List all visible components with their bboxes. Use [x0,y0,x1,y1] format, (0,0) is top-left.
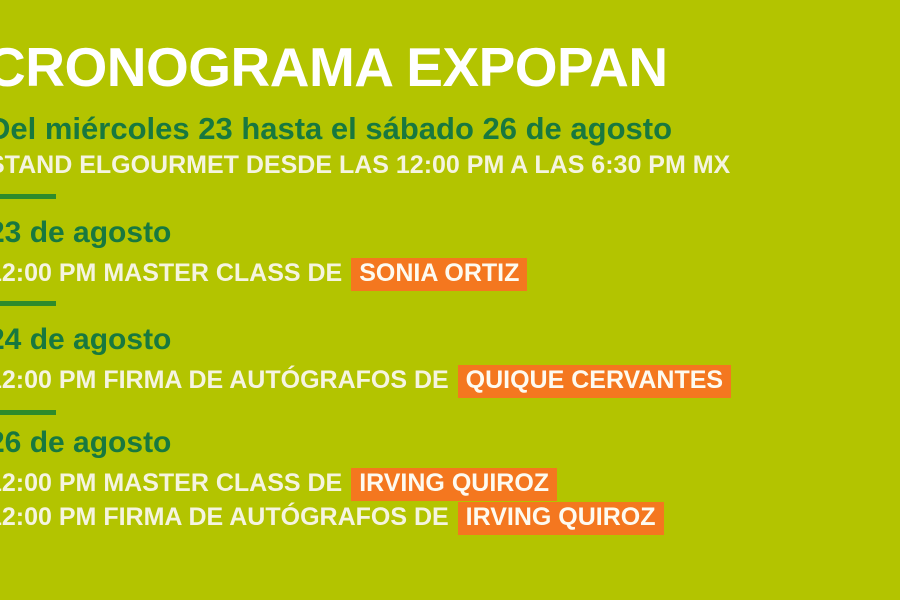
decoration-group [700,0,900,140]
day-block-23: 23 de agosto 12:00 PM MASTER CLASS DE SO… [0,218,527,291]
event-line: 12:00 PM MASTER CLASS DE IRVING QUIROZ [0,467,664,501]
event-time-text: 12:00 PM FIRMA DE AUTÓGRAFOS DE [0,366,449,394]
poster-title: CRONOGRAMA EXPOPAN [0,40,668,95]
day-block-26: 26 de agosto 12:00 PM MASTER CLASS DE IR… [0,428,664,535]
event-line: 12:00 PM FIRMA DE AUTÓGRAFOS DE QUIQUE C… [0,364,731,398]
guest-name-chip: QUIQUE CERVANTES [458,365,731,398]
event-time-text: 12:00 PM MASTER CLASS DE [0,469,342,497]
event-time-text: 12:00 PM MASTER CLASS DE [0,259,342,287]
event-line: 12:00 PM FIRMA DE AUTÓGRAFOS DE IRVING Q… [0,501,664,535]
divider-rule-2 [0,301,56,306]
poster-subtitle: Del miércoles 23 hasta el sábado 26 de a… [0,113,672,144]
event-line: 12:00 PM MASTER CLASS DE SONIA ORTIZ [0,257,527,291]
poster-canvas: CRONOGRAMA EXPOPAN Del miércoles 23 hast… [0,0,900,600]
event-time-text: 12:00 PM FIRMA DE AUTÓGRAFOS DE [0,503,449,531]
day-heading: 26 de agosto [0,428,664,458]
day-heading: 23 de agosto [0,218,527,248]
guest-name-chip: SONIA ORTIZ [351,258,527,291]
divider-rule-3 [0,410,56,415]
day-block-24: 24 de agosto 12:00 PM FIRMA DE AUTÓGRAFO… [0,325,731,398]
guest-name-chip: IRVING QUIROZ [351,468,557,501]
day-heading: 24 de agosto [0,325,731,355]
guest-name-chip: IRVING QUIROZ [458,502,664,535]
venue-hours-line: STAND ELGOURMET DESDE LAS 12:00 PM A LAS… [0,153,730,178]
divider-rule-1 [0,194,56,199]
